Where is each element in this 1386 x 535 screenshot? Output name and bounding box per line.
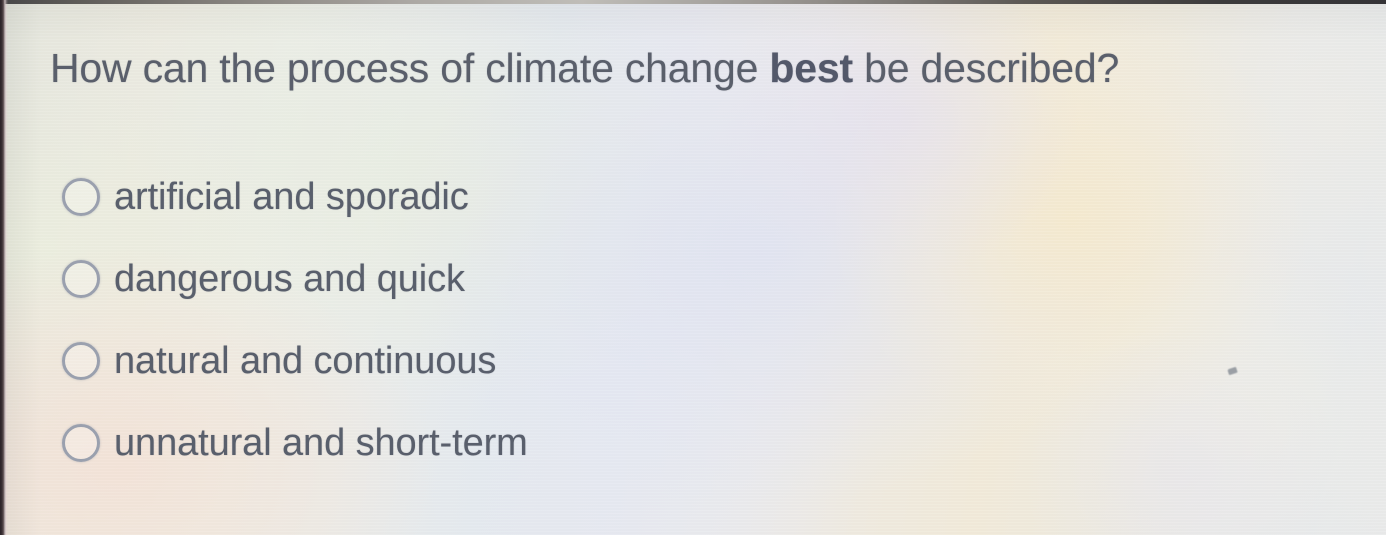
answer-option-c[interactable]: natural and continuous	[0, 320, 1386, 402]
answer-option-b-label: dangerous and quick	[114, 257, 465, 301]
radio-unchecked-icon[interactable]	[62, 424, 100, 462]
question-text-emphasis: best	[769, 45, 853, 91]
question-screen: How can the process of climate change be…	[0, 0, 1386, 535]
answer-option-c-label: natural and continuous	[114, 339, 496, 383]
radio-unchecked-icon[interactable]	[62, 260, 100, 298]
radio-unchecked-icon[interactable]	[62, 342, 100, 380]
answer-options-list: artificial and sporadic dangerous and qu…	[0, 156, 1386, 484]
question-content: How can the process of climate change be…	[0, 0, 1386, 535]
radio-unchecked-icon[interactable]	[62, 178, 100, 216]
answer-option-a[interactable]: artificial and sporadic	[0, 156, 1386, 238]
answer-option-d[interactable]: unnatural and short-term	[0, 402, 1386, 484]
answer-option-a-label: artificial and sporadic	[114, 175, 469, 219]
question-text-prefix: How can the process of climate change	[50, 45, 769, 91]
answer-option-d-label: unnatural and short-term	[114, 421, 528, 465]
question-text: How can the process of climate change be…	[50, 42, 1119, 94]
question-text-suffix: be described?	[853, 45, 1119, 91]
answer-option-b[interactable]: dangerous and quick	[0, 238, 1386, 320]
